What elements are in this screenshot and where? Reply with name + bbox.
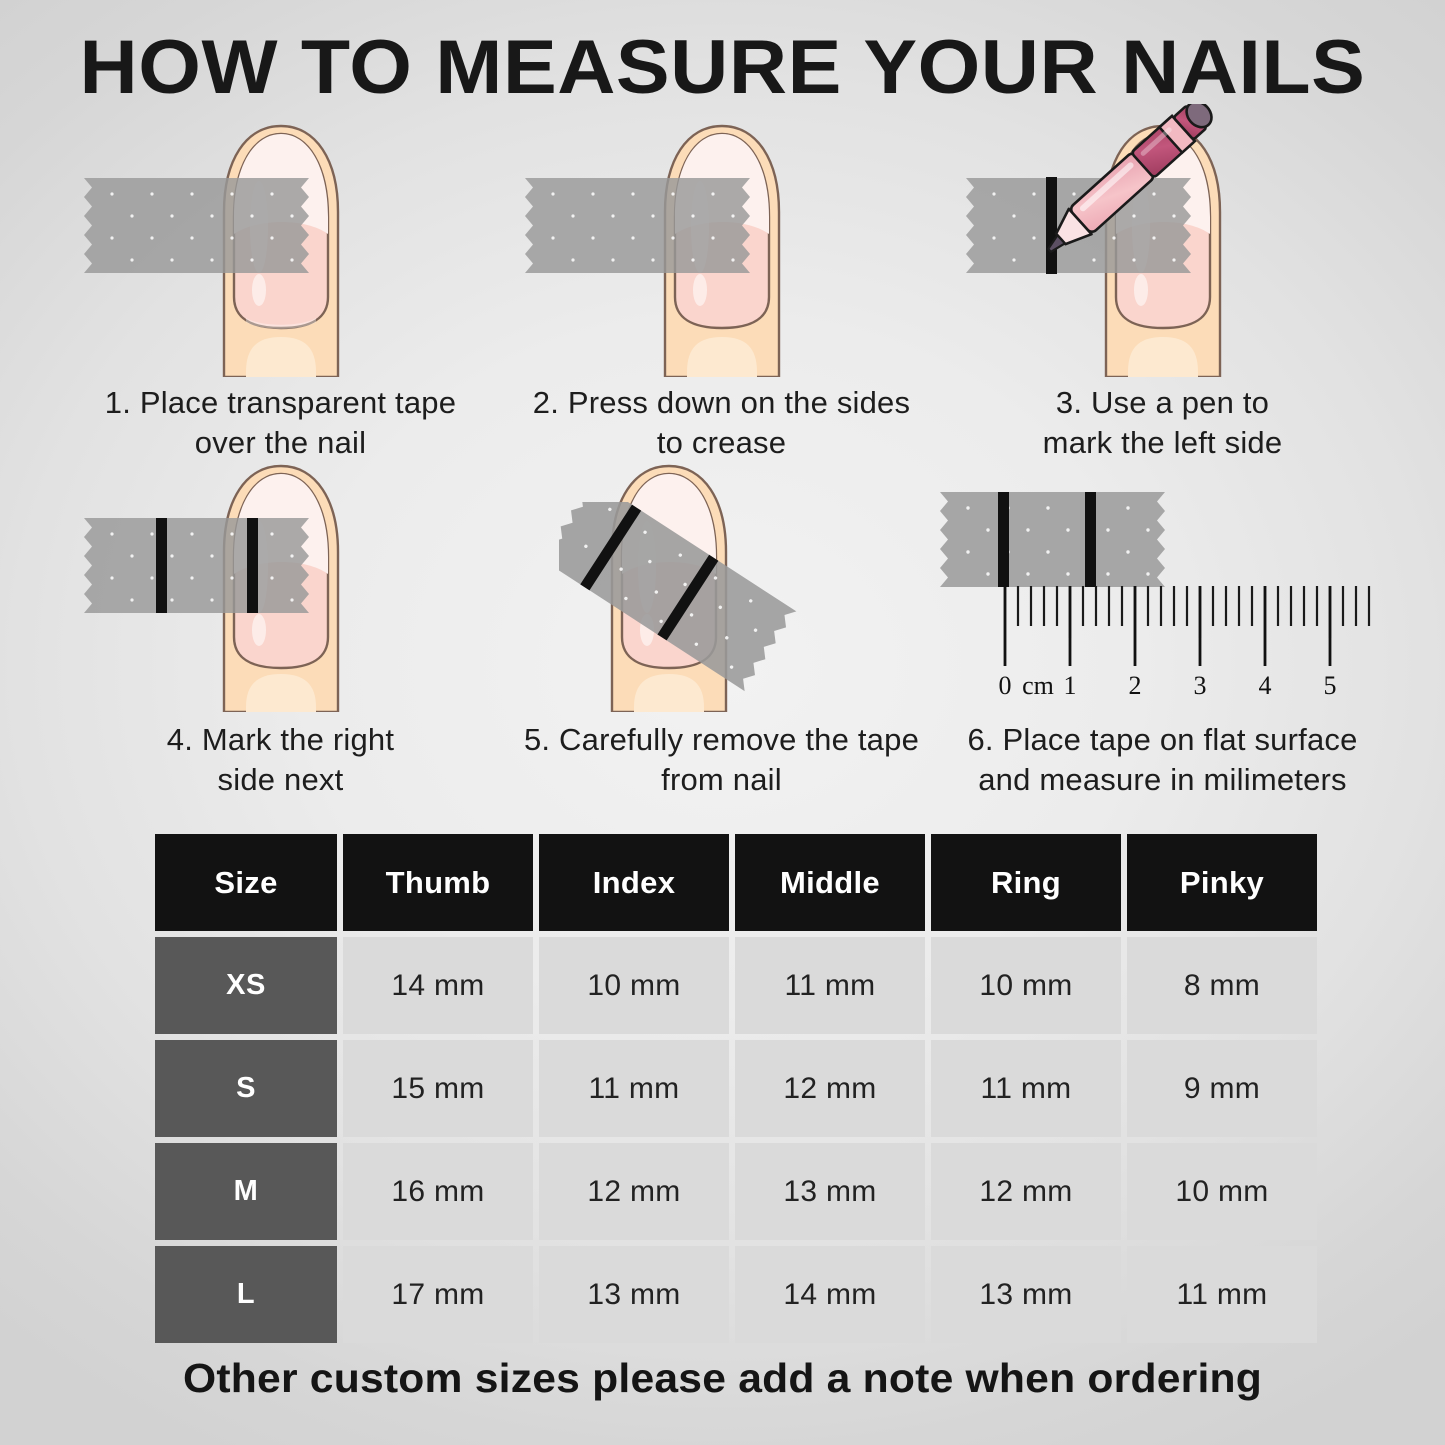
table-cell: 11 mm bbox=[735, 937, 925, 1034]
step-1-line-2: over the nail bbox=[66, 423, 495, 463]
table-cell: 17 mm bbox=[343, 1246, 533, 1343]
step-1-caption: 1. Place transparent tape over the nail bbox=[60, 375, 501, 462]
table-header-index: Index bbox=[539, 834, 729, 931]
table-cell: 13 mm bbox=[735, 1143, 925, 1240]
table-cell: 10 mm bbox=[1127, 1143, 1317, 1240]
table-cell: 15 mm bbox=[343, 1040, 533, 1137]
pen-mark-right bbox=[247, 518, 258, 613]
page-title: HOW TO MEASURE YOUR NAILS bbox=[0, 24, 1445, 111]
table-cell: 14 mm bbox=[343, 937, 533, 1034]
table-cell: 9 mm bbox=[1127, 1040, 1317, 1137]
ruler-tick-0: 0 bbox=[999, 671, 1012, 700]
tape-strip-peeled bbox=[559, 502, 889, 727]
size-label-m: M bbox=[155, 1143, 337, 1240]
table-cell: 14 mm bbox=[735, 1246, 925, 1343]
size-label-xs: XS bbox=[155, 937, 337, 1034]
table-cell: 8 mm bbox=[1127, 937, 1317, 1034]
step-3-line-1: 3. Use a pen to bbox=[948, 383, 1377, 423]
ruler-unit-label: cm bbox=[1022, 671, 1054, 700]
table-cell: 16 mm bbox=[343, 1143, 533, 1240]
ruler: 0 cm 1 2 3 4 5 bbox=[998, 586, 1383, 711]
step-4-line-1: 4. Mark the right bbox=[66, 720, 495, 760]
step-3: 3. Use a pen to mark the left side bbox=[942, 110, 1383, 462]
table-cell: 12 mm bbox=[539, 1143, 729, 1240]
tape-strip bbox=[74, 178, 319, 273]
step-3-caption: 3. Use a pen to mark the left side bbox=[942, 375, 1383, 462]
steps-section: 1. Place transparent tape over the nail bbox=[60, 110, 1385, 800]
step-3-illustration bbox=[942, 110, 1383, 375]
step-4: 4. Mark the right side next bbox=[60, 462, 501, 799]
table-cell: 11 mm bbox=[931, 1040, 1121, 1137]
table-row: M 16 mm 12 mm 13 mm 12 mm 10 mm bbox=[155, 1143, 1323, 1240]
table-cell: 10 mm bbox=[539, 937, 729, 1034]
table-cell: 12 mm bbox=[931, 1143, 1121, 1240]
step-4-illustration bbox=[60, 462, 501, 712]
step-6: 0 cm 1 2 3 4 5 6. Place tape on flat bbox=[942, 462, 1383, 799]
ruler-tick-1: 1 bbox=[1064, 671, 1077, 700]
table-cell: 13 mm bbox=[539, 1246, 729, 1343]
tape-strip bbox=[515, 178, 760, 273]
table-header-size: Size bbox=[155, 834, 337, 931]
table-row: L 17 mm 13 mm 14 mm 13 mm 11 mm bbox=[155, 1246, 1323, 1343]
step-1: 1. Place transparent tape over the nail bbox=[60, 110, 501, 462]
step-4-line-2: side next bbox=[66, 760, 495, 800]
step-1-line-1: 1. Place transparent tape bbox=[66, 383, 495, 423]
step-4-caption: 4. Mark the right side next bbox=[60, 712, 501, 799]
tape-strip bbox=[74, 518, 319, 613]
tape-strip-flat bbox=[930, 492, 1180, 592]
size-label-s: S bbox=[155, 1040, 337, 1137]
step-3-line-2: mark the left side bbox=[948, 423, 1377, 463]
step-1-illustration bbox=[60, 110, 501, 375]
pen-mark-left bbox=[156, 518, 167, 613]
table-row: XS 14 mm 10 mm 11 mm 10 mm 8 mm bbox=[155, 937, 1323, 1034]
table-cell: 11 mm bbox=[1127, 1246, 1317, 1343]
table-header-pinky: Pinky bbox=[1127, 834, 1317, 931]
steps-row-1: 1. Place transparent tape over the nail bbox=[60, 110, 1385, 462]
step-5-illustration bbox=[501, 462, 942, 712]
step-6-line-1: 6. Place tape on flat surface bbox=[948, 720, 1377, 760]
step-6-line-2: and measure in milimeters bbox=[948, 760, 1377, 800]
table-header-middle: Middle bbox=[735, 834, 925, 931]
step-2-line-1: 2. Press down on the sides bbox=[507, 383, 936, 423]
ruler-tick-2: 2 bbox=[1129, 671, 1142, 700]
step-6-illustration: 0 cm 1 2 3 4 5 bbox=[942, 462, 1383, 712]
step-2-line-2: to crease bbox=[507, 423, 936, 463]
ruler-tick-4: 4 bbox=[1259, 671, 1272, 700]
table-cell: 13 mm bbox=[931, 1246, 1121, 1343]
steps-row-2: 4. Mark the right side next bbox=[60, 462, 1385, 799]
ruler-tick-5: 5 bbox=[1324, 671, 1337, 700]
table-header-thumb: Thumb bbox=[343, 834, 533, 931]
step-5-line-2: from nail bbox=[507, 760, 936, 800]
step-6-caption: 6. Place tape on flat surface and measur… bbox=[942, 712, 1383, 799]
step-2: 2. Press down on the sides to crease bbox=[501, 110, 942, 462]
table-cell: 11 mm bbox=[539, 1040, 729, 1137]
step-5: 5. Carefully remove the tape from nail bbox=[501, 462, 942, 799]
pen-icon bbox=[1045, 104, 1255, 299]
step-2-caption: 2. Press down on the sides to crease bbox=[501, 375, 942, 462]
step-2-illustration bbox=[501, 110, 942, 375]
table-header-row: Size Thumb Index Middle Ring Pinky bbox=[155, 834, 1323, 931]
infographic-page: HOW TO MEASURE YOUR NAILS bbox=[0, 0, 1445, 1445]
footer-note: Other custom sizes please add a note whe… bbox=[0, 1355, 1445, 1402]
table-row: S 15 mm 11 mm 12 mm 11 mm 9 mm bbox=[155, 1040, 1323, 1137]
table-cell: 12 mm bbox=[735, 1040, 925, 1137]
size-label-l: L bbox=[155, 1246, 337, 1343]
ruler-tick-3: 3 bbox=[1194, 671, 1207, 700]
table-header-ring: Ring bbox=[931, 834, 1121, 931]
table-cell: 10 mm bbox=[931, 937, 1121, 1034]
size-chart-table: Size Thumb Index Middle Ring Pinky XS 14… bbox=[155, 834, 1323, 1349]
